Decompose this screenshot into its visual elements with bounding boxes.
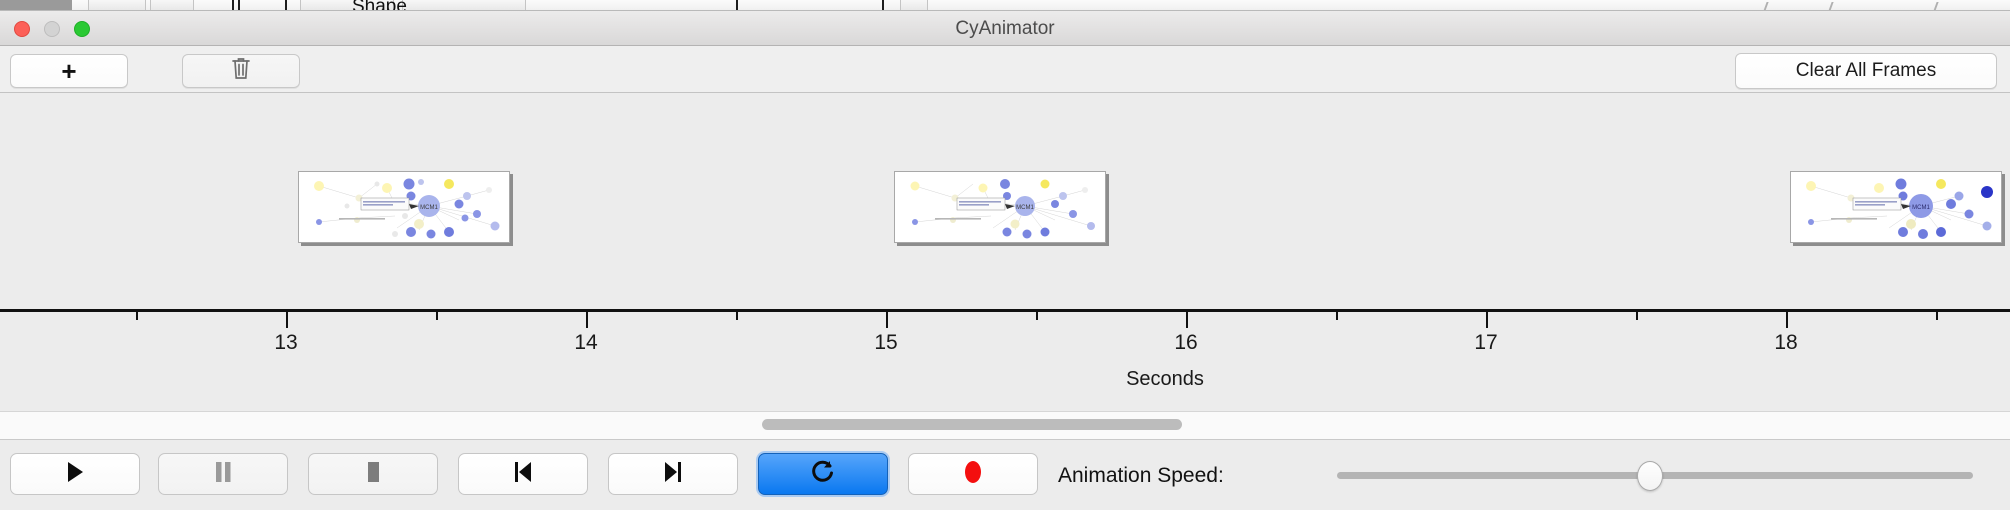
pause-button[interactable] — [158, 453, 288, 495]
bg-tab — [900, 0, 928, 11]
axis-tick-label: 17 — [1474, 331, 1497, 355]
record-button[interactable] — [908, 453, 1038, 495]
timeline-scrollbar[interactable] — [0, 411, 2010, 439]
bg-tab — [402, 0, 526, 11]
axis-tick-minor — [136, 312, 138, 320]
bg-tab — [150, 0, 194, 11]
axis-tick-label: 15 — [874, 331, 897, 355]
keyframe-thumbnail[interactable]: MCM1 — [1790, 171, 2002, 243]
axis-tick-label: 18 — [1774, 331, 1797, 355]
loop-icon — [810, 458, 836, 491]
svg-text:MCM1: MCM1 — [1016, 205, 1034, 211]
cyanimator-window: Shape CyAnimator + — [0, 0, 2010, 510]
bg-divider — [736, 0, 738, 11]
timeline-axis — [0, 309, 2010, 312]
play-button[interactable] — [10, 453, 140, 495]
bg-diagonal — [1933, 2, 1950, 11]
pause-icon — [212, 460, 234, 489]
skip-to-start-button[interactable] — [458, 453, 588, 495]
keyframe-thumbnail[interactable]: MCM1 — [894, 171, 1106, 243]
axis-tick-minor — [1036, 312, 1038, 320]
playback-toolbar: Animation Speed: — [0, 439, 2010, 510]
bg-diagonal — [1828, 2, 1845, 11]
axis-tick-major — [286, 312, 288, 328]
bg-divider — [285, 0, 287, 11]
svg-text:MCM1: MCM1 — [1912, 205, 1930, 211]
bg-divider — [232, 0, 234, 11]
trash-icon — [231, 56, 251, 86]
axis-tick-major — [886, 312, 888, 328]
axis-tick-label: 14 — [574, 331, 597, 355]
animation-speed-label: Animation Speed: — [1058, 464, 1224, 488]
timeline-panel[interactable]: MCM1 — [0, 93, 2010, 411]
animation-speed-slider-thumb[interactable] — [1637, 461, 1663, 491]
record-icon — [961, 459, 985, 490]
axis-tick-major — [1186, 312, 1188, 328]
bg-divider — [238, 0, 240, 11]
clear-all-frames-button[interactable]: Clear All Frames — [1735, 53, 1997, 89]
axis-tick-minor — [1636, 312, 1638, 320]
axis-tick-major — [1486, 312, 1488, 328]
bg-divider — [882, 0, 884, 11]
clear-all-frames-label: Clear All Frames — [1796, 60, 1936, 82]
bg-diagonal — [1763, 2, 1780, 11]
stop-icon — [362, 460, 384, 489]
skip-to-end-button[interactable] — [608, 453, 738, 495]
title-bar: CyAnimator — [0, 11, 2010, 46]
bg-window-label: Shape — [352, 0, 407, 11]
plus-icon: + — [61, 58, 76, 84]
loop-button[interactable] — [758, 453, 888, 495]
axis-tick-minor — [736, 312, 738, 320]
axis-tick-minor — [1336, 312, 1338, 320]
axis-tick-major — [586, 312, 588, 328]
play-icon — [64, 460, 86, 489]
axis-tick-label: 16 — [1174, 331, 1197, 355]
axis-tick-major — [1786, 312, 1788, 328]
scrollbar-thumb[interactable] — [762, 419, 1182, 430]
keyframe-thumbnail[interactable]: MCM1 — [298, 171, 510, 243]
skip-back-icon — [511, 460, 535, 489]
stop-button[interactable] — [308, 453, 438, 495]
add-frame-button[interactable]: + — [10, 54, 128, 88]
delete-frame-button[interactable] — [182, 54, 300, 88]
page-title: CyAnimator — [0, 18, 2010, 40]
skip-forward-icon — [661, 460, 685, 489]
toolbar: + Clear All Frames — [0, 46, 2010, 93]
axis-tick-minor — [1936, 312, 1938, 320]
axis-tick-label: 13 — [274, 331, 297, 355]
background-window-strip: Shape — [0, 0, 2010, 11]
axis-tick-minor — [436, 312, 438, 320]
svg-text:MCM1: MCM1 — [420, 205, 438, 211]
axis-title: Seconds — [0, 368, 2010, 391]
bg-dark-tab — [0, 0, 72, 11]
bg-tab — [88, 0, 146, 11]
